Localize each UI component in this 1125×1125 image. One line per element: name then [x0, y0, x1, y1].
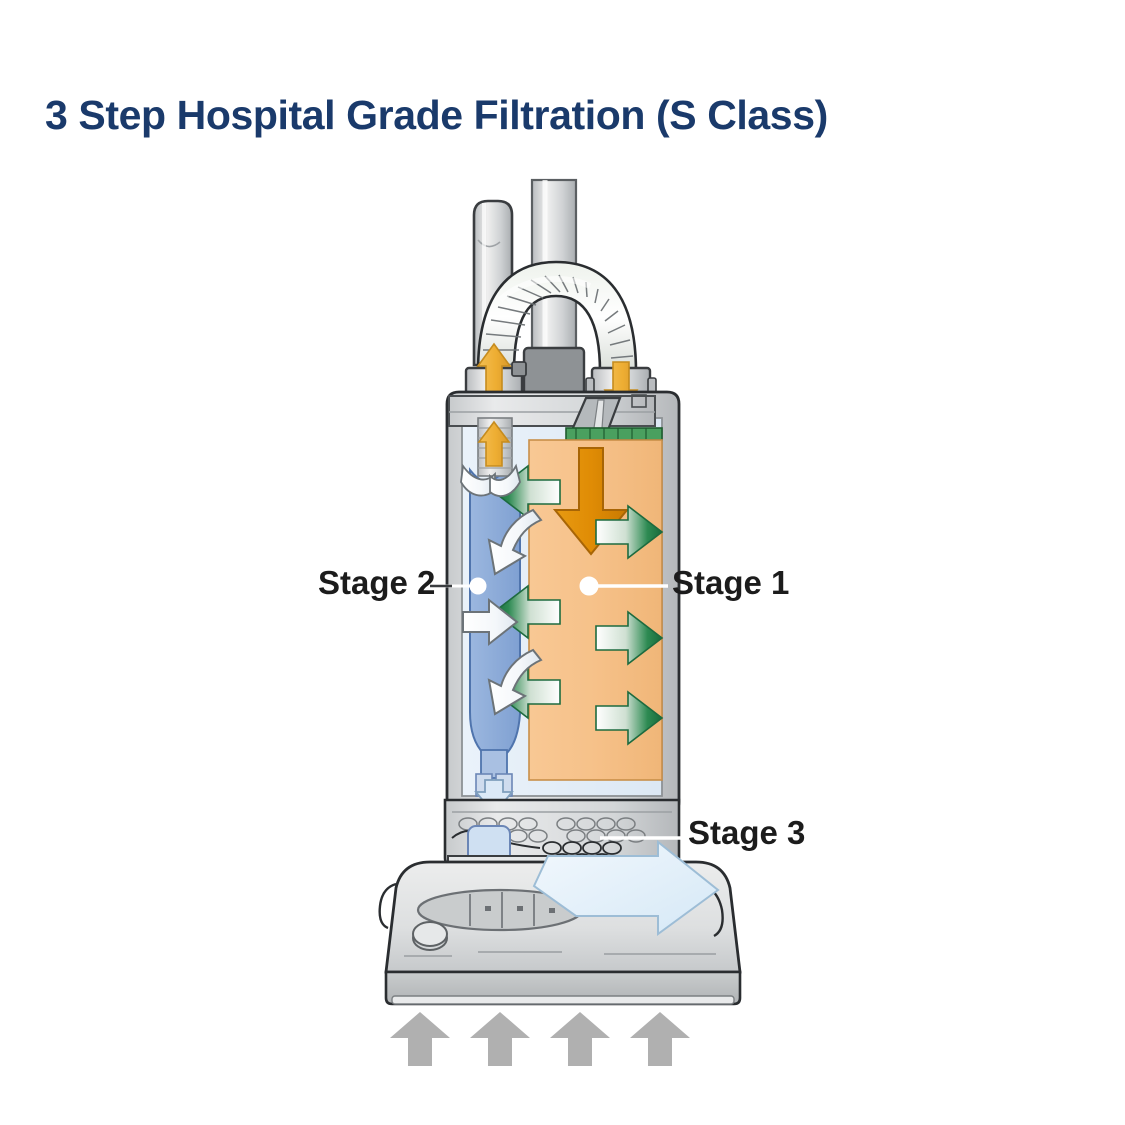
internal-riser-channel — [478, 418, 512, 476]
handle-lock-block — [512, 348, 584, 396]
bag-collar — [566, 428, 662, 440]
label-stage-3: Stage 3 — [688, 814, 805, 852]
label-stage-2: Stage 2 — [318, 564, 435, 602]
floor-intake-arrows — [390, 1012, 690, 1066]
diagram-page: 3 Step Hospital Grade Filtration (S Clas… — [0, 0, 1125, 1125]
vacuum-filtration-diagram — [0, 0, 1125, 1125]
label-stage-1: Stage 1 — [672, 564, 789, 602]
